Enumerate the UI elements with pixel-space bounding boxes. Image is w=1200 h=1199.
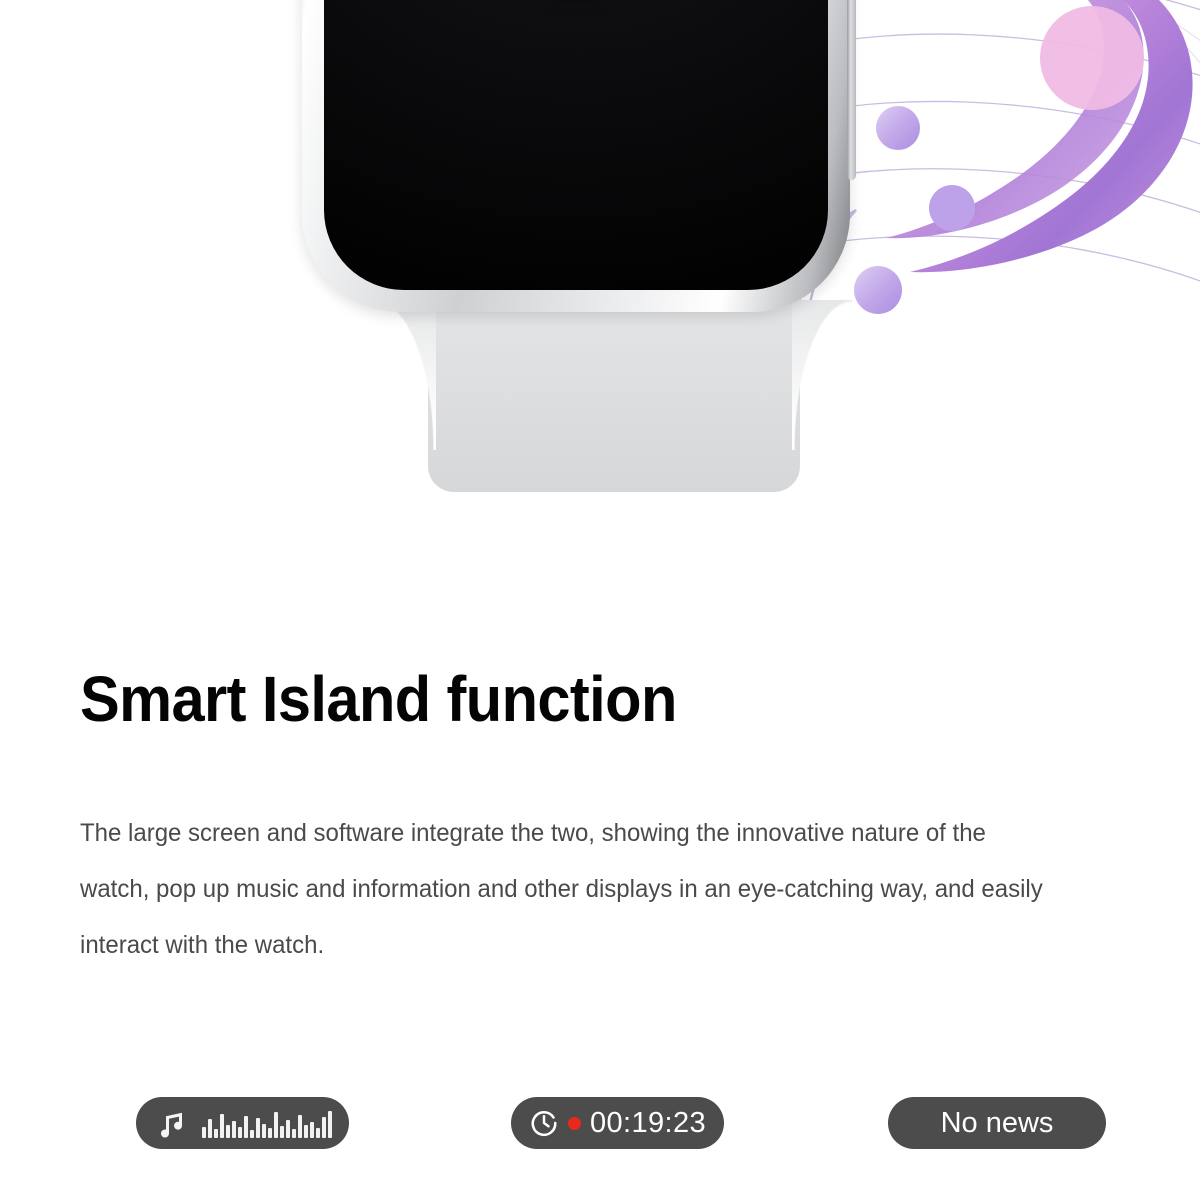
clock-icon [529, 1108, 559, 1138]
eq-bar [214, 1129, 218, 1138]
news-island-pill[interactable]: No news [888, 1097, 1106, 1149]
equalizer-bars [202, 1108, 332, 1138]
smartwatch-illustration [0, 0, 1200, 520]
timer-value: 00:19:23 [590, 1107, 706, 1140]
eq-bar [220, 1114, 224, 1138]
music-note-icon [158, 1107, 188, 1139]
news-label: No news [941, 1107, 1054, 1140]
eq-bar [226, 1125, 230, 1138]
eq-bar [208, 1119, 212, 1138]
eq-bar [250, 1130, 254, 1138]
eq-bar [202, 1127, 206, 1138]
watch-case [302, 0, 850, 312]
eq-bar [262, 1124, 266, 1138]
eq-bar [292, 1129, 296, 1138]
eq-bar [268, 1128, 272, 1138]
eq-bar [298, 1115, 302, 1138]
page-title: Smart Island function [80, 662, 677, 736]
eq-bar [244, 1116, 248, 1138]
timer-island-pill[interactable]: 00:19:23 [511, 1097, 724, 1149]
eq-bar [274, 1112, 278, 1138]
eq-bar [322, 1117, 326, 1138]
eq-bar [328, 1111, 332, 1138]
smart-island-pill-row: 00:19:23 No news [0, 1095, 1200, 1155]
watch-crown[interactable] [847, 0, 856, 180]
eq-bar [316, 1128, 320, 1138]
watch-screen [324, 0, 828, 290]
eq-bar [304, 1125, 308, 1138]
eq-bar [286, 1120, 290, 1138]
eq-bar [238, 1127, 242, 1138]
eq-bar [256, 1118, 260, 1138]
eq-bar [310, 1122, 314, 1138]
record-dot-icon [568, 1117, 581, 1130]
music-island-pill[interactable] [136, 1097, 349, 1149]
eq-bar [280, 1126, 284, 1138]
watch-band [428, 300, 800, 492]
page-description: The large screen and software integrate … [80, 805, 1050, 973]
eq-bar [232, 1121, 236, 1138]
